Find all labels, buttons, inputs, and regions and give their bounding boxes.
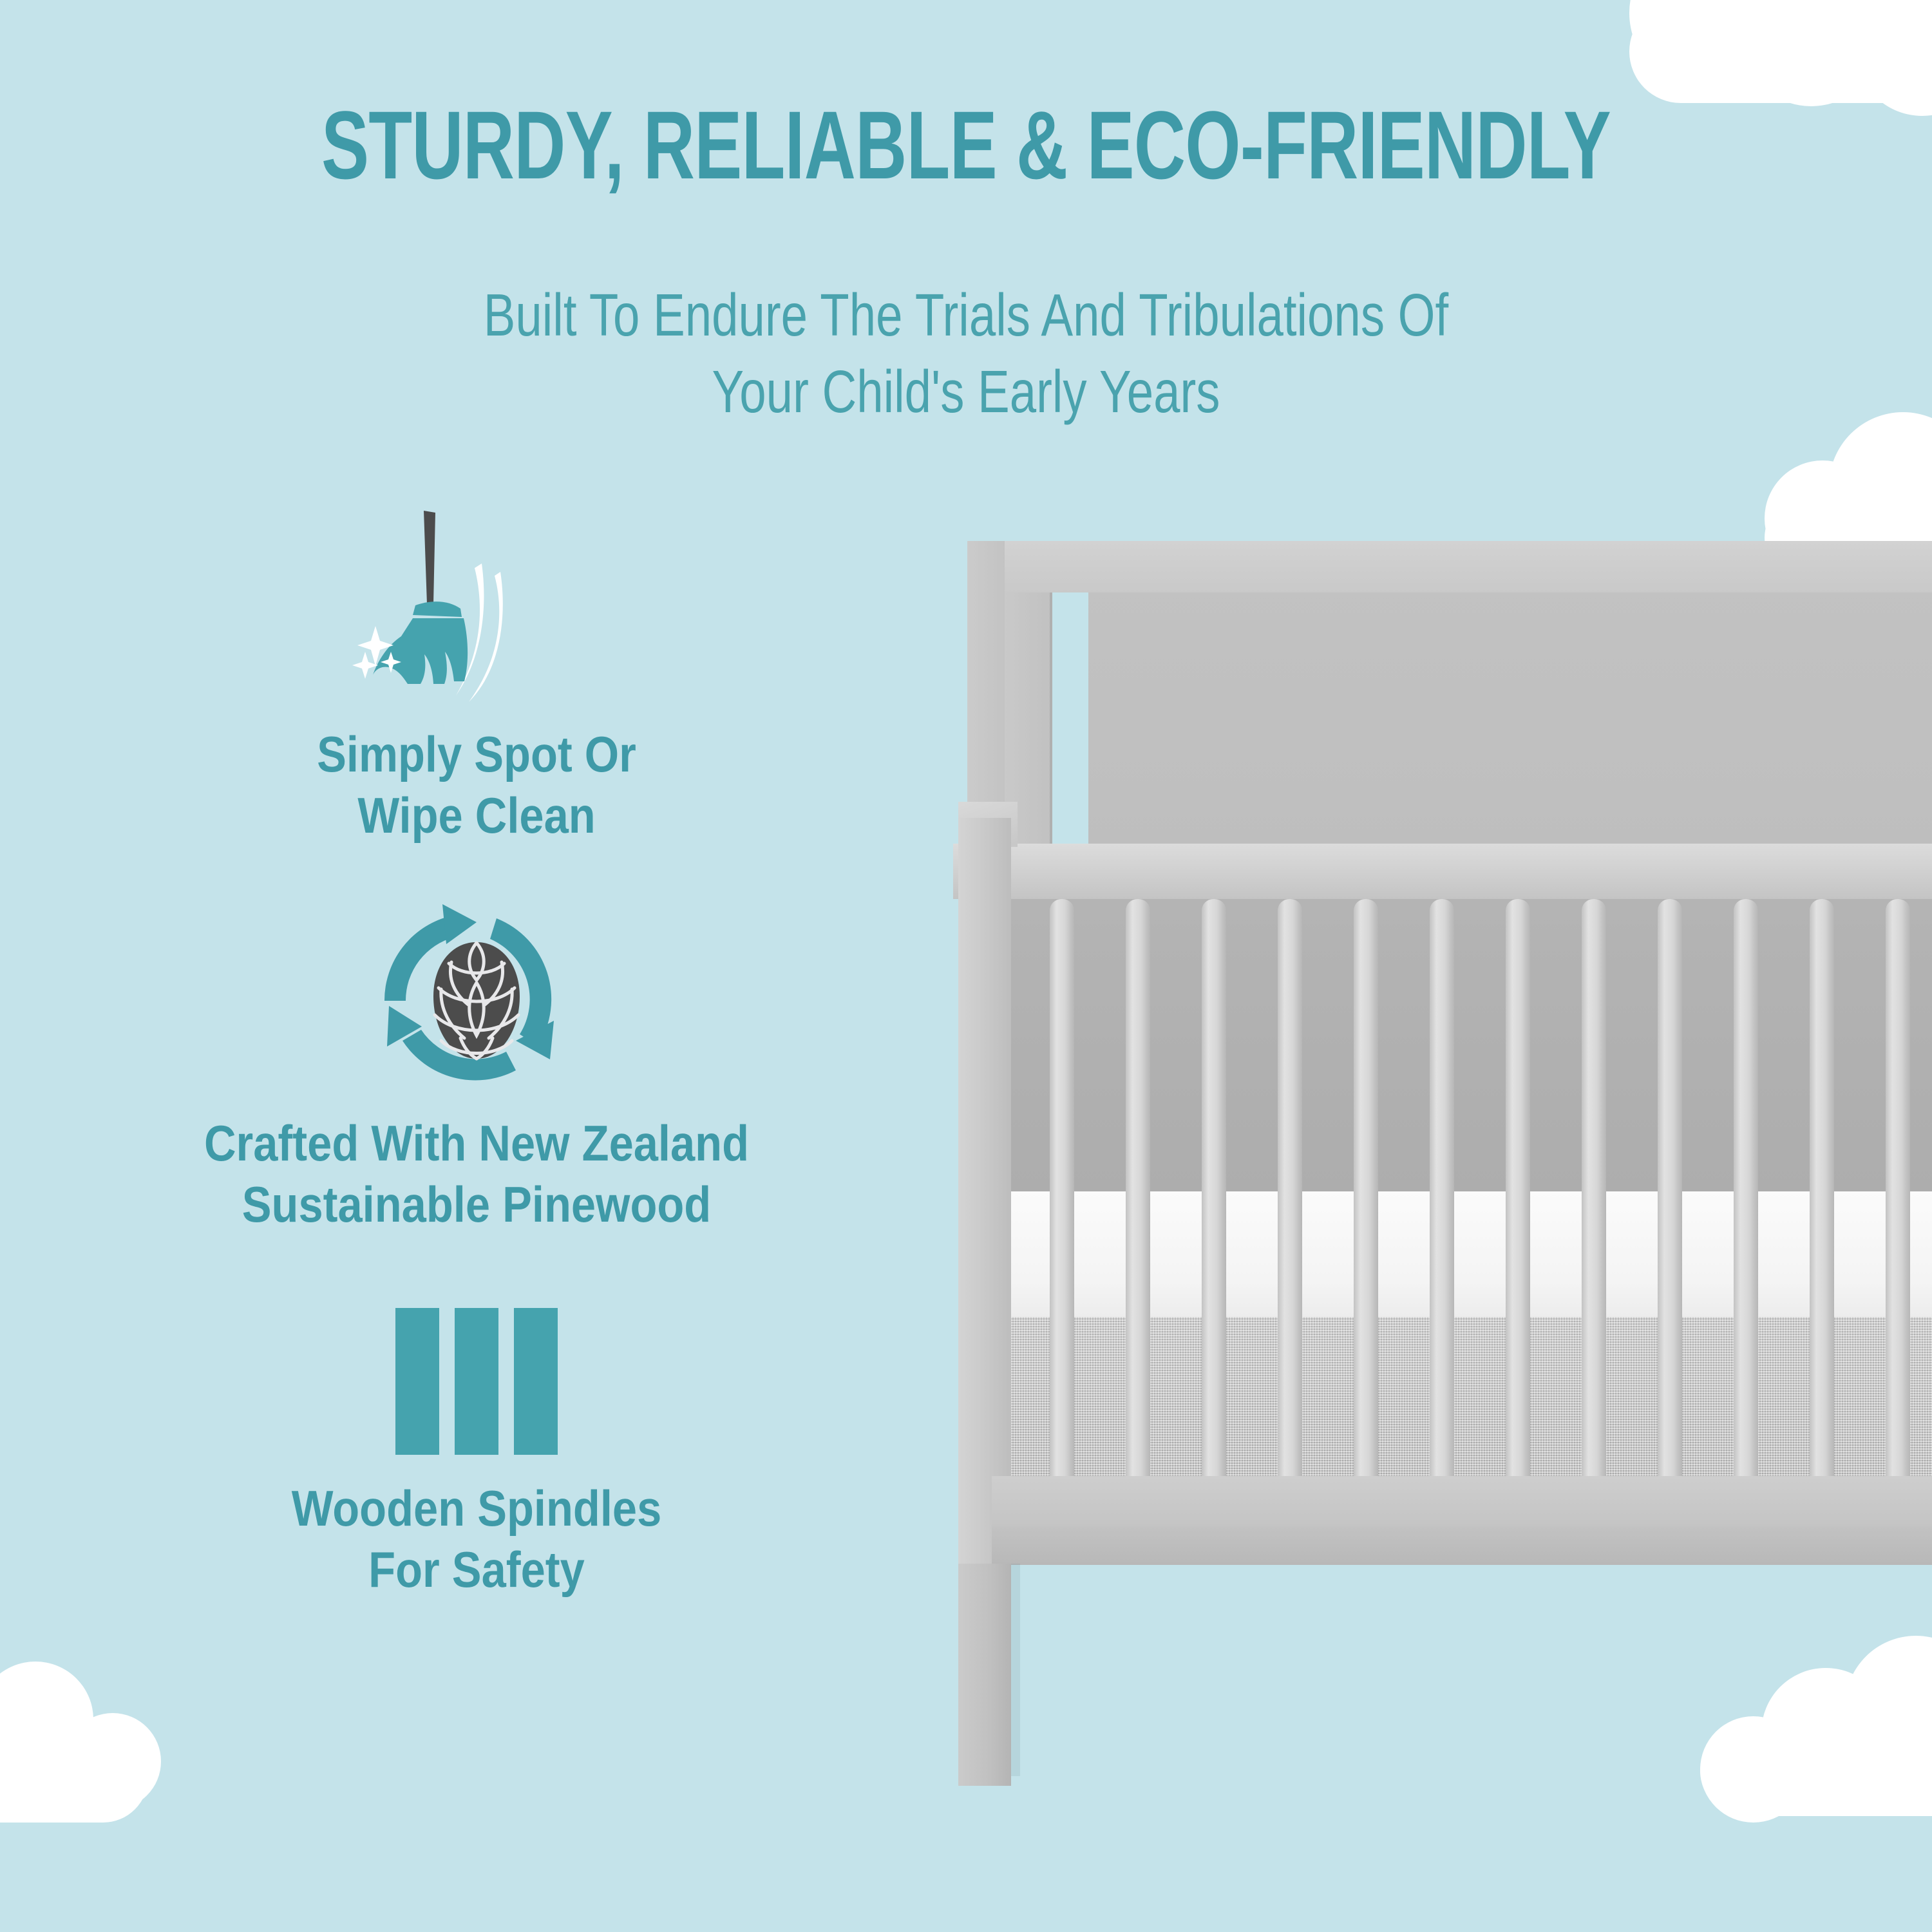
crib-spindle [1506, 899, 1530, 1479]
page-title: STURDY, RELIABLE & ECO-FRIENDLY [251, 97, 1681, 193]
feature-caption-line-1: Simply Spot Or [57, 724, 896, 785]
crib-spindle [1050, 899, 1074, 1479]
crib-spindle [1126, 899, 1150, 1479]
spindle-bar [395, 1308, 439, 1455]
crib-leg-shadow [1011, 1564, 1020, 1776]
feature-sustainable-pinewood: Crafted With New Zealand Sustainable Pin… [0, 898, 953, 1235]
feature-icon-slot [0, 898, 953, 1110]
crib-headboard-toprail [967, 541, 1932, 592]
feature-caption: Crafted With New Zealand Sustainable Pin… [57, 1113, 896, 1235]
crib-spindle [1810, 899, 1834, 1479]
crib-product-image [953, 541, 1932, 1823]
crib-spindle [1734, 899, 1758, 1479]
promo-image-canvas: STURDY, RELIABLE & ECO-FRIENDLY Built To… [0, 0, 1932, 1932]
subtitle-line-2: Your Child's Early Years [193, 354, 1739, 430]
crib-base-rail [992, 1476, 1932, 1528]
broom-sparkle-icon [351, 509, 621, 721]
feature-caption: Wooden Spindles For Safety [57, 1478, 896, 1600]
feature-caption-line-2: Sustainable Pinewood [57, 1174, 896, 1235]
recycle-pinecone-icon [370, 904, 583, 1104]
feature-wooden-spindles: Wooden Spindles For Safety [0, 1282, 953, 1600]
crib-base-rail-lower [992, 1526, 1932, 1565]
crib-spindle [1202, 899, 1226, 1479]
crib-spindle [1430, 899, 1454, 1479]
feature-wipe-clean: Simply Spot Or Wipe Clean [0, 509, 953, 846]
crib-spindle [1278, 899, 1302, 1479]
crib-leg [958, 1564, 1011, 1786]
crib-spindle [1658, 899, 1682, 1479]
feature-caption: Simply Spot Or Wipe Clean [57, 724, 896, 846]
feature-icon-slot [0, 1282, 953, 1475]
spindle-bar [514, 1308, 558, 1455]
feature-list: Simply Spot Or Wipe Clean [0, 509, 953, 1600]
subtitle-line-1: Built To Endure The Trials And Tribulati… [193, 277, 1739, 354]
crib-spindle [1354, 899, 1378, 1479]
page-subtitle: Built To Endure The Trials And Tribulati… [193, 277, 1739, 430]
feature-caption-line-1: Wooden Spindles [57, 1478, 896, 1539]
crib-spindle [1582, 899, 1606, 1479]
spindle-bar [455, 1308, 498, 1455]
feature-caption-line-2: For Safety [57, 1539, 896, 1600]
cloud-bottom-left [0, 1668, 161, 1842]
crib-side-toprail [953, 844, 1932, 899]
wooden-spindles-icon [395, 1308, 558, 1455]
feature-caption-line-1: Crafted With New Zealand [57, 1113, 896, 1174]
crib-spindle [1886, 899, 1910, 1479]
feature-icon-slot [0, 509, 953, 721]
feature-caption-line-2: Wipe Clean [57, 785, 896, 846]
